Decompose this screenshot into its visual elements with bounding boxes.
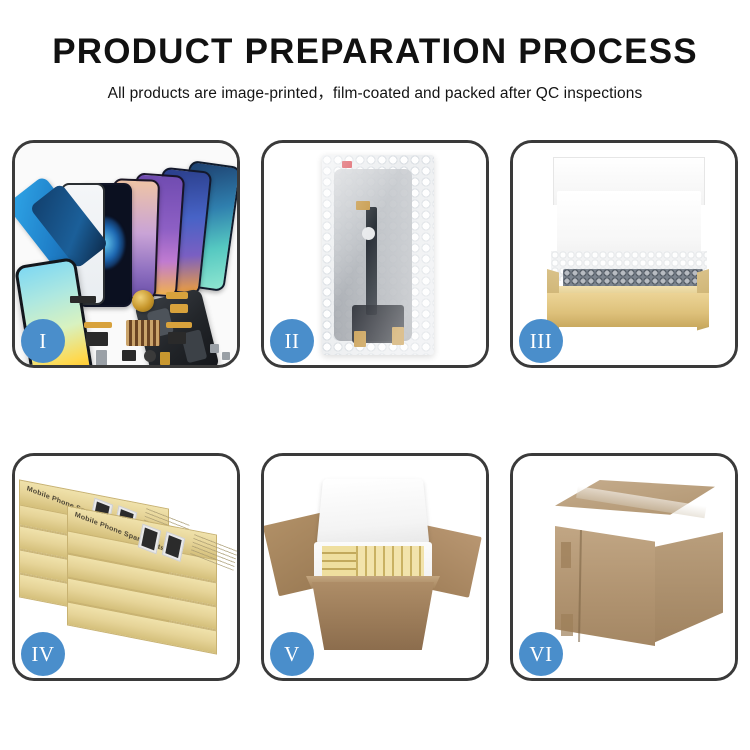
product-preparation-infographic: PRODUCT PREPARATION PROCESS All products…: [0, 0, 750, 750]
part-module-dark: [168, 332, 186, 344]
part-flex-cable: [166, 292, 188, 299]
wrapped-flex-cable: [366, 207, 377, 315]
bubble-wrap-bag: [322, 155, 434, 355]
part-camera-module: [86, 332, 108, 346]
process-step-card-5[interactable]: V: [261, 453, 489, 681]
wrapped-camera-hole: [362, 227, 375, 240]
step-badge-6: VI: [519, 632, 563, 676]
part-speaker-coil: [132, 290, 154, 312]
page-subtitle: All products are image-printed，film-coat…: [0, 81, 750, 103]
wrapped-gold-contact-3: [392, 327, 404, 345]
wrapped-gold-contact-2: [354, 331, 366, 347]
step-badge-3: III: [519, 319, 563, 363]
part-gold-contact: [160, 352, 170, 365]
part-screw-a: [210, 344, 219, 353]
part-button-black: [122, 350, 136, 361]
step-badge-1: I: [21, 319, 65, 363]
part-connector: [70, 296, 96, 303]
part-metal-bracket: [96, 350, 107, 366]
process-step-card-6[interactable]: VI: [510, 453, 738, 681]
process-step-card-4[interactable]: Mobile Phone Spare Parts Mobile Phone Sp…: [12, 453, 240, 681]
process-step-card-1[interactable]: I: [12, 140, 240, 368]
wrapped-gold-contact-1: [356, 201, 370, 210]
sealed-shipping-carton: [531, 480, 721, 656]
carton-tape-patch-upper: [561, 542, 571, 568]
part-screw-b: [222, 352, 230, 360]
carton-right-face: [651, 532, 723, 644]
kraft-box-front-wall: [547, 293, 709, 327]
part-vibrator-motor: [144, 350, 156, 362]
process-step-card-3[interactable]: III: [510, 140, 738, 368]
step-badge-4: IV: [21, 632, 65, 676]
process-step-grid: I II: [12, 140, 738, 681]
part-flex-cable-2: [170, 304, 188, 313]
process-step-card-2[interactable]: II: [261, 140, 489, 368]
page-title: PRODUCT PREPARATION PROCESS: [0, 32, 750, 72]
foam-box-lid: [317, 479, 430, 546]
wrapped-red-label: [342, 161, 352, 168]
step-badge-2: II: [270, 319, 314, 363]
part-ribbon-cable-2: [166, 322, 192, 328]
part-chip-array: [126, 320, 160, 346]
carton-body: [312, 582, 434, 650]
step-badge-5: V: [270, 632, 314, 676]
part-ribbon-cable: [84, 322, 112, 328]
carton-tape-patch-lower: [561, 614, 573, 636]
header: PRODUCT PREPARATION PROCESS All products…: [0, 0, 750, 103]
spare-parts-cluster: [70, 288, 240, 368]
